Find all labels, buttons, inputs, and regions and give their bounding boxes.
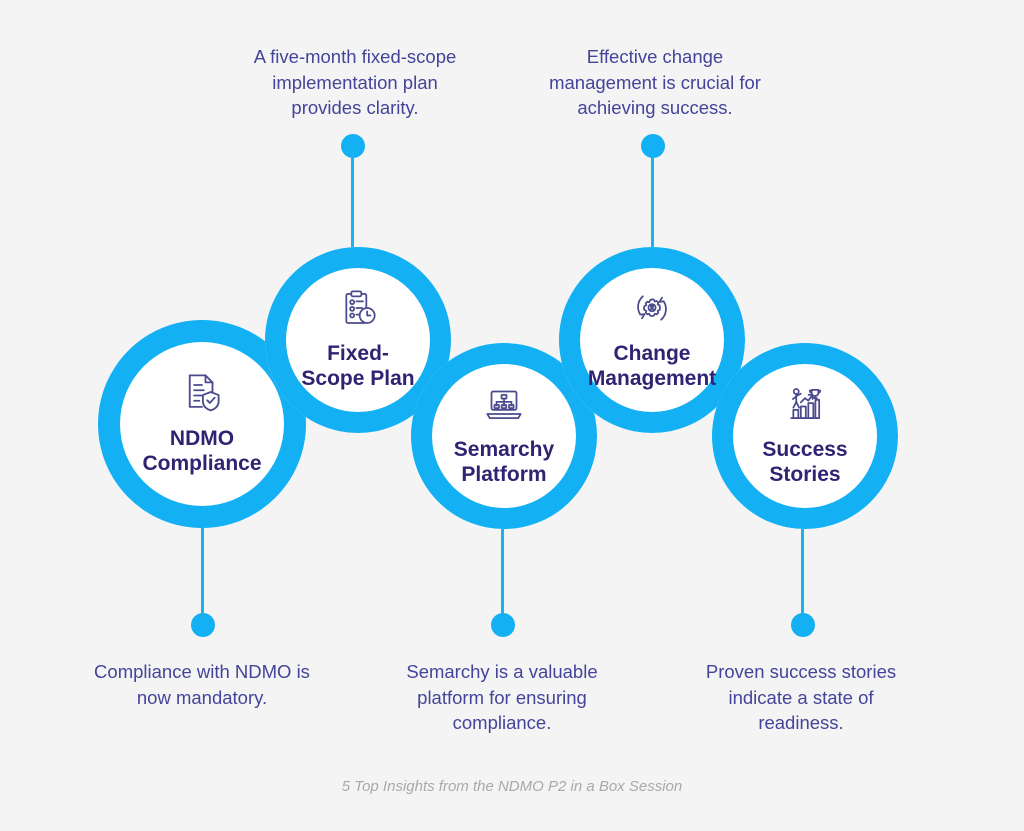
node-inner-fixed-scope-plan: Fixed- Scope Plan [286, 268, 430, 412]
callout-change-management-text: Effective change management is crucial f… [516, 44, 794, 121]
footer-caption: 5 Top Insights from the NDMO P2 in a Box… [0, 778, 1024, 795]
node-label-ndmo-compliance: NDMO Compliance [142, 427, 261, 476]
node-label-change-management: Change Management [588, 342, 716, 391]
node-label-semarchy-platform: Semarchy Platform [454, 438, 554, 487]
infographic-canvas: A five-month fixed-scope implementation … [0, 0, 1024, 831]
callout-ndmo-compliance-text: Compliance with NDMO is now mandatory. [62, 659, 342, 710]
document-shield-check-icon [181, 371, 223, 418]
connector-dot-semarchy-platform-bottom [491, 613, 515, 637]
callout-semarchy-platform-text: Semarchy is a valuable platform for ensu… [382, 659, 622, 736]
laptop-hierarchy-icon [484, 384, 524, 429]
callout-success-stories-text: Proven success stories indicate a state … [681, 659, 921, 736]
person-bar-chart-trophy-icon [785, 384, 825, 429]
clipboard-checklist-clock-icon [338, 288, 378, 333]
node-inner-change-management: Change Management [580, 268, 724, 412]
connector-line-ndmo-compliance-bottom [201, 518, 204, 628]
node-inner-success-stories: Success Stories [733, 364, 877, 508]
gear-refresh-cycle-icon [632, 288, 672, 333]
connector-dot-success-stories-bottom [791, 613, 815, 637]
node-success-stories[interactable]: Success Stories [712, 343, 898, 529]
node-label-success-stories: Success Stories [762, 438, 847, 487]
node-inner-ndmo-compliance: NDMO Compliance [120, 342, 284, 506]
callout-fixed-scope-plan-text: A five-month fixed-scope implementation … [216, 44, 494, 121]
connector-dot-ndmo-compliance-bottom [191, 613, 215, 637]
node-inner-semarchy-platform: Semarchy Platform [432, 364, 576, 508]
node-label-fixed-scope-plan: Fixed- Scope Plan [301, 342, 414, 391]
